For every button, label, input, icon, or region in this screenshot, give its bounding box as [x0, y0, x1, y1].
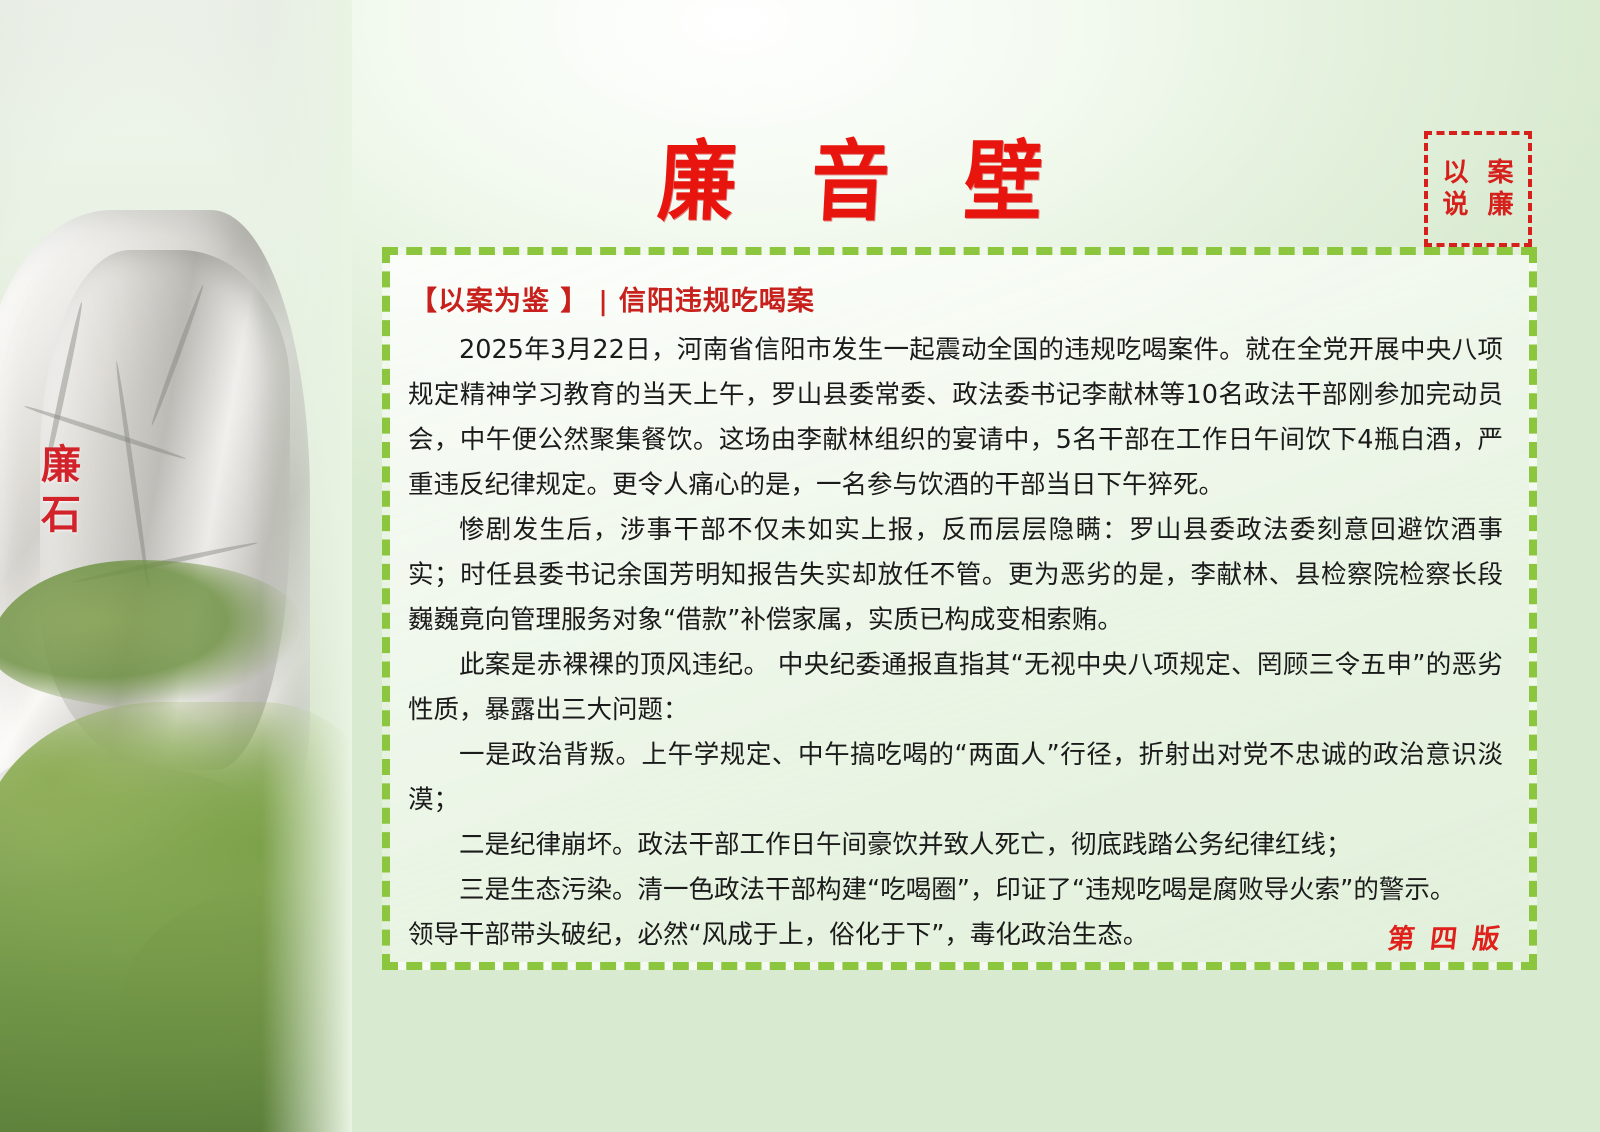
article-paragraph: 二是纪律崩坏。政法干部工作日午间豪饮并致人死亡，彻底践踏公务纪律红线；	[408, 823, 1503, 868]
lianshi-char-shi: 石	[22, 490, 102, 540]
article-paragraph: 此案是赤裸裸的顶风违纪。 中央纪委通报直指其“无视中央八项规定、罔顾三令五申”的…	[408, 643, 1503, 733]
article-headline: 【以案为鉴 】 | 信阳违规吃喝案	[410, 279, 1503, 318]
article-paragraph: 惨剧发生后，涉事干部不仅未如实上报，反而层层隐瞒：罗山县委政法委刻意回避饮酒事实…	[408, 508, 1503, 643]
lianshi-watermark: 廉 石	[22, 440, 102, 540]
headline-main: 【以案为鉴 】	[410, 279, 588, 318]
article-closing-line: 领导干部带头破纪，必然“风成于上，俗化于下”，毒化政治生态。	[408, 913, 1503, 958]
seal-line-1: 以 案	[1437, 160, 1518, 186]
photo-fade-edge	[262, 0, 352, 1132]
article-paragraph: 2025年3月22日，河南省信阳市发生一起震动全国的违规吃喝案件。就在全党开展中…	[408, 328, 1503, 508]
edition-badge: 第 四 版	[1386, 917, 1505, 956]
seal-line-2: 说 廉	[1437, 192, 1518, 218]
article-frame: 【以案为鉴 】 | 信阳违规吃喝案 2025年3月22日，河南省信阳市发生一起震…	[382, 247, 1537, 970]
rock-photo-panel	[0, 0, 352, 1132]
article-paragraph: 一是政治背叛。上午学规定、中午搞吃喝的“两面人”行径，折射出对党不忠诚的政治意识…	[408, 733, 1503, 823]
lianshi-char-lian: 廉	[22, 440, 102, 490]
newspaper-page: 廉 石 廉 音 壁 以 案 说 廉 【以案为鉴 】 | 信阳违规吃喝案 2025…	[0, 0, 1600, 1132]
masthead: 廉 音 壁	[640, 130, 1060, 235]
headline-separator: |	[598, 287, 608, 317]
seal-stamp: 以 案 说 廉	[1424, 131, 1532, 247]
article-body: 2025年3月22日，河南省信阳市发生一起震动全国的违规吃喝案件。就在全党开展中…	[408, 328, 1503, 958]
masthead-title: 廉 音 壁	[632, 139, 1069, 226]
article-paragraph: 三是生态污染。清一色政法干部构建“吃喝圈”，印证了“违规吃喝是腐败导火索”的警示…	[408, 868, 1503, 913]
headline-subtitle: 信阳违规吃喝案	[619, 279, 815, 318]
